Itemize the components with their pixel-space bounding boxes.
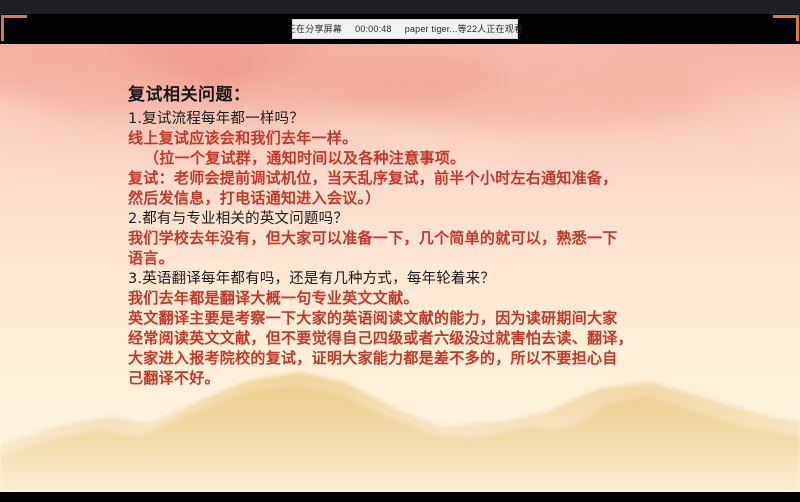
slide-question-2: 2.都有与专业相关的英文问题吗？ (128, 210, 728, 229)
slide-question-3: 3.英语翻译每年都有吗，还是有几种方式，每年轮着来？ (128, 270, 728, 289)
slide-answer-line: 然后发信息，打电话通知进入会议。） (128, 189, 728, 209)
slide-answer-line: 经常阅读英文文献，但不要觉得自己四级或者六级没过就害怕去读、翻译， (128, 329, 728, 349)
slide-answer-line: 英文翻译主要是考察一下大家的英语阅读文献的能力，因为读研期间大家 (128, 309, 728, 329)
slide-question-1: 1.复试流程每年都一样吗？ (128, 110, 728, 129)
slide-answer-line: 我们学校去年没有，但大家可以准备一下，几个简单的就可以，熟悉一下 (128, 229, 728, 249)
slide-answer-line: （拉一个复试群，通知时间以及各种注意事项。 (128, 149, 728, 169)
slide-answer-line: 语言。 (128, 249, 728, 269)
bottom-letterbox (0, 492, 800, 502)
window-chrome-strip (0, 0, 800, 14)
viewers-label: paper tiger...等22人正在观看 (405, 25, 523, 34)
slide-answer-line: 我们去年都是翻译大概一句专业英文文献。 (128, 289, 728, 309)
slide-answer-line: 大家进入报考院校的复试，证明大家能力都是差不多的，所以不要担心自 (128, 349, 728, 369)
share-timer: 00:00:48 (355, 25, 392, 34)
slide-answer-line: 己翻译不好。 (128, 369, 728, 389)
slide-text-body: 复试相关问题： 1.复试流程每年都一样吗？ 线上复试应该会和我们去年一样。 （拉… (128, 84, 728, 389)
slide-heading: 复试相关问题： (128, 84, 728, 107)
sharing-status-label: 正在分享屏幕 (287, 25, 342, 34)
screen-share-status-pill[interactable]: 正在分享屏幕 00:00:48 paper tiger...等22人正在观看 (292, 19, 518, 39)
slide-answer-line: 线上复试应该会和我们去年一样。 (128, 129, 728, 149)
screen-share-window: 正在分享屏幕 00:00:48 paper tiger...等22人正在观看 (0, 0, 800, 502)
shared-slide-content: 复试相关问题： 1.复试流程每年都一样吗？ 线上复试应该会和我们去年一样。 （拉… (0, 44, 800, 492)
slide-answer-line: 复试：老师会提前调试机位，当天乱序复试，前半个小时左右通知准备， (128, 169, 728, 189)
